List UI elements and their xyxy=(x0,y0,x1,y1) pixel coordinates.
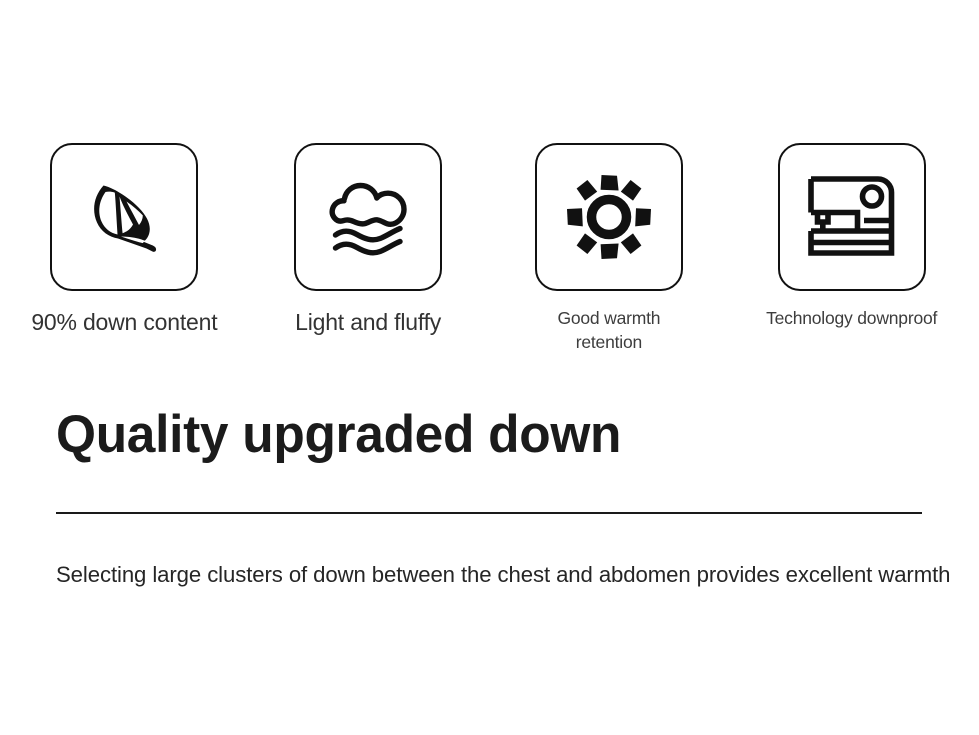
feature-item-down-content: 90% down content xyxy=(2,143,247,354)
cloud-waves-icon-box xyxy=(294,143,442,291)
feather-icon-box xyxy=(50,143,198,291)
sewing-machine-icon xyxy=(800,165,904,269)
feature-item-technology-downproof: Technology downproof xyxy=(729,143,974,354)
cloud-waves-icon xyxy=(316,165,420,269)
feather-icon xyxy=(72,165,176,269)
promo-banner: 90% down content Light and fluffy xyxy=(0,0,979,735)
feature-label: Technology downproof xyxy=(766,307,937,331)
page-title: Quality upgraded down xyxy=(56,408,621,461)
feature-label: 90% down content xyxy=(31,307,217,338)
feature-item-light-fluffy: Light and fluffy xyxy=(246,143,491,354)
sun-icon xyxy=(559,167,659,267)
feature-item-warmth-retention: Good warmth retention xyxy=(487,143,732,354)
feature-row: 90% down content Light and fluffy xyxy=(0,143,979,354)
page-subtitle: Selecting large clusters of down between… xyxy=(56,561,950,588)
feature-label: Good warmth retention xyxy=(557,307,660,354)
divider xyxy=(56,512,922,514)
feature-label: Light and fluffy xyxy=(295,307,441,338)
sewing-machine-icon-box xyxy=(778,143,926,291)
sun-icon-box xyxy=(535,143,683,291)
